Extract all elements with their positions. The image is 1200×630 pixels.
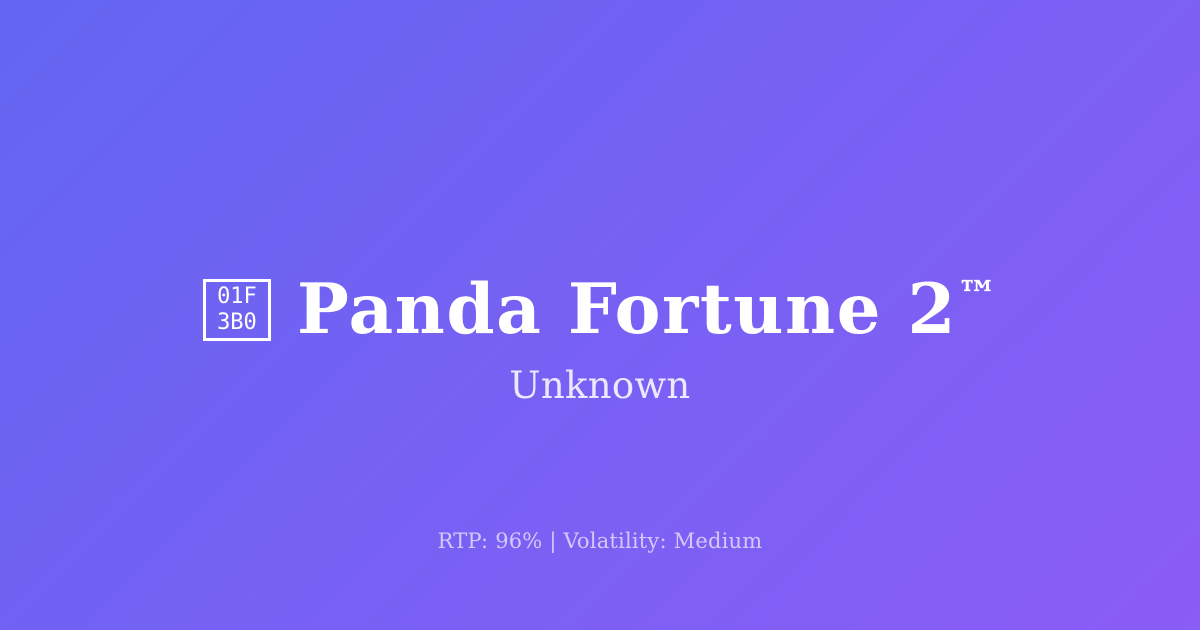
page-title-text: Panda Fortune 2 bbox=[297, 269, 957, 350]
trademark-symbol: ™ bbox=[957, 272, 997, 319]
tofu-codepoint-top: 01F bbox=[217, 284, 257, 310]
page-title: Panda Fortune 2™ bbox=[297, 275, 997, 344]
subtitle: Unknown bbox=[0, 365, 1200, 408]
og-share-card: 01F 3B0 Panda Fortune 2™ Unknown RTP: 96… bbox=[0, 0, 1200, 630]
game-stats-meta: RTP: 96% | Volatility: Medium bbox=[0, 529, 1200, 554]
tofu-codepoint-bottom: 3B0 bbox=[217, 310, 257, 336]
slot-machine-tofu-icon: 01F 3B0 bbox=[203, 279, 271, 341]
